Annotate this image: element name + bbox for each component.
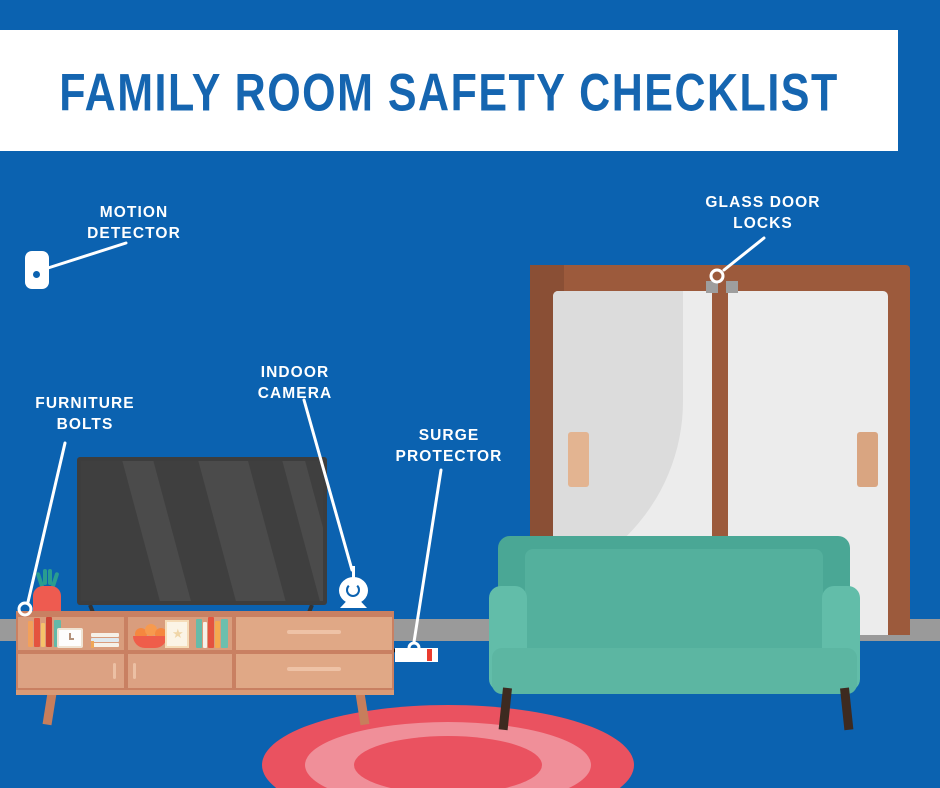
door-lock-icon[interactable] (706, 281, 718, 293)
callout-label-glass-door-locks: GLASS DOOR LOCKS (700, 192, 826, 234)
callout-label-furniture-bolts: FURNITURE BOLTS (24, 393, 146, 435)
book-icon (208, 617, 214, 648)
clock-hand-hour (69, 638, 74, 640)
callout-label-indoor-camera: INDOOR CAMERA (234, 362, 356, 404)
motion-sensor-icon[interactable] (25, 251, 49, 289)
callout-label-motion-detector: MOTION DETECTOR (73, 202, 195, 244)
screen-glare-stripe (277, 461, 323, 601)
plant-leaf (43, 569, 47, 585)
door-handle-right[interactable] (857, 432, 878, 487)
book-icon (28, 621, 33, 647)
page-title: FAMILY ROOM SAFETY CHECKLIST (0, 64, 898, 124)
credenza-drawer-1[interactable] (16, 652, 126, 690)
motion-sensor-lens-icon (33, 271, 40, 278)
credenza-drawer-2[interactable] (126, 652, 234, 690)
book-icon (221, 619, 228, 648)
book-icon (203, 622, 207, 648)
stacked-book-icon (91, 643, 119, 647)
power-strip-switch[interactable] (427, 649, 432, 661)
leader-line-surge-protector (414, 470, 441, 642)
book-icon (196, 619, 202, 648)
screen-glare-stripe (193, 461, 291, 601)
book-icon (46, 617, 52, 647)
book-icon (34, 618, 40, 647)
drawer-handle[interactable] (113, 663, 116, 679)
book-icon (41, 623, 45, 647)
area-rug-inner-ring (354, 736, 542, 788)
drawer-handle[interactable] (287, 667, 341, 671)
television-screen (81, 461, 323, 601)
stacked-book-icon (91, 638, 119, 642)
star-icon: ★ (172, 628, 184, 640)
drawer-handle[interactable] (133, 663, 136, 679)
webcam-lens-icon (346, 583, 360, 597)
door-lock-icon[interactable] (726, 281, 738, 293)
sofa-seat-cushion (492, 648, 857, 694)
book-icon (215, 621, 220, 648)
screen-glare-stripe (117, 461, 198, 601)
credenza-drawer-3[interactable] (234, 652, 394, 690)
stacked-book-icon (91, 633, 119, 637)
callout-label-surge-protector: SURGE PROTECTOR (388, 425, 510, 467)
infographic-canvas: ★ MOTION DETECTOR GLASS DOOR LOCKS FURNI… (0, 0, 940, 788)
book-spine-accent (91, 641, 94, 648)
leader-line-motion-detector (48, 243, 126, 268)
sofa-backrest-cushion (525, 549, 823, 655)
door-handle-left[interactable] (568, 432, 589, 487)
drawer-handle[interactable] (287, 630, 341, 634)
sofa-leg-right (840, 688, 853, 731)
